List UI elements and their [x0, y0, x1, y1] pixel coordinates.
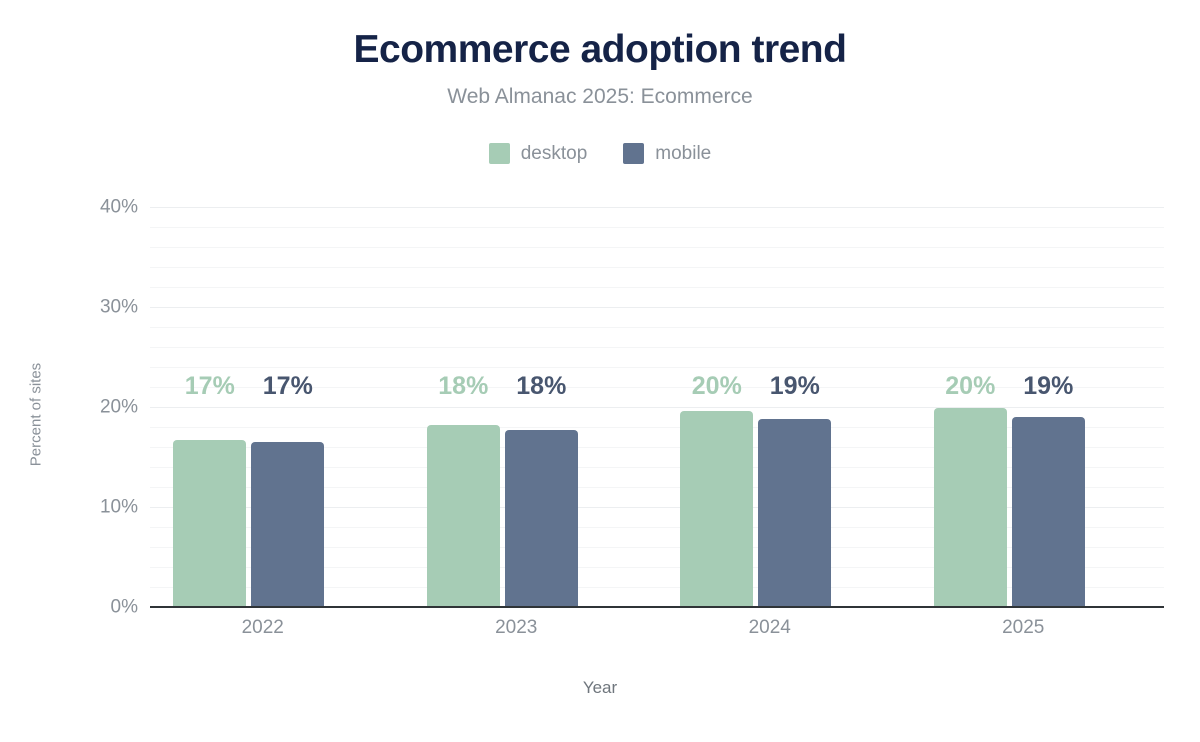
- chart-plot: 17%17%18%18%20%19%20%19% 0%10%20%30%40% …: [0, 0, 1200, 742]
- y-axis-title: Percent of sites: [29, 335, 44, 495]
- gridline-minor: [150, 327, 1164, 328]
- gridline-minor: [150, 347, 1164, 348]
- y-tick-label-0%: 0%: [18, 598, 138, 617]
- bar-mobile-2022[interactable]: [251, 442, 324, 607]
- data-label-mobile-2025: 19%: [1006, 374, 1091, 399]
- bar-desktop-2023[interactable]: [427, 425, 500, 607]
- y-tick-label-40%: 40%: [18, 198, 138, 217]
- x-tick-label-2022: 2022: [193, 618, 333, 637]
- bar-desktop-2024[interactable]: [680, 411, 753, 607]
- data-label-desktop-2023: 18%: [421, 374, 506, 399]
- data-label-mobile-2023: 18%: [499, 374, 584, 399]
- data-label-desktop-2024: 20%: [674, 374, 759, 399]
- gridline-minor: [150, 367, 1164, 368]
- bar-desktop-2022[interactable]: [173, 440, 246, 607]
- x-tick-label-2024: 2024: [700, 618, 840, 637]
- data-label-mobile-2024: 19%: [752, 374, 837, 399]
- bar-desktop-2025[interactable]: [934, 408, 1007, 607]
- data-label-mobile-2022: 17%: [245, 374, 330, 399]
- gridline-major: [150, 307, 1164, 308]
- x-axis-title: Year: [0, 679, 1200, 696]
- y-tick-label-30%: 30%: [18, 298, 138, 317]
- bar-mobile-2024[interactable]: [758, 419, 831, 607]
- bar-mobile-2025[interactable]: [1012, 417, 1085, 607]
- gridline-minor: [150, 287, 1164, 288]
- bar-mobile-2023[interactable]: [505, 430, 578, 607]
- y-tick-label-10%: 10%: [18, 498, 138, 517]
- gridline-minor: [150, 227, 1164, 228]
- x-axis-line: [150, 606, 1164, 608]
- data-label-desktop-2022: 17%: [167, 374, 252, 399]
- data-label-desktop-2025: 20%: [928, 374, 1013, 399]
- gridline-minor: [150, 267, 1164, 268]
- gridline-major: [150, 207, 1164, 208]
- x-tick-label-2025: 2025: [953, 618, 1093, 637]
- plot-area: 17%17%18%18%20%19%20%19%: [150, 207, 1164, 607]
- gridline-major: [150, 407, 1164, 408]
- gridline-minor: [150, 247, 1164, 248]
- x-tick-label-2023: 2023: [446, 618, 586, 637]
